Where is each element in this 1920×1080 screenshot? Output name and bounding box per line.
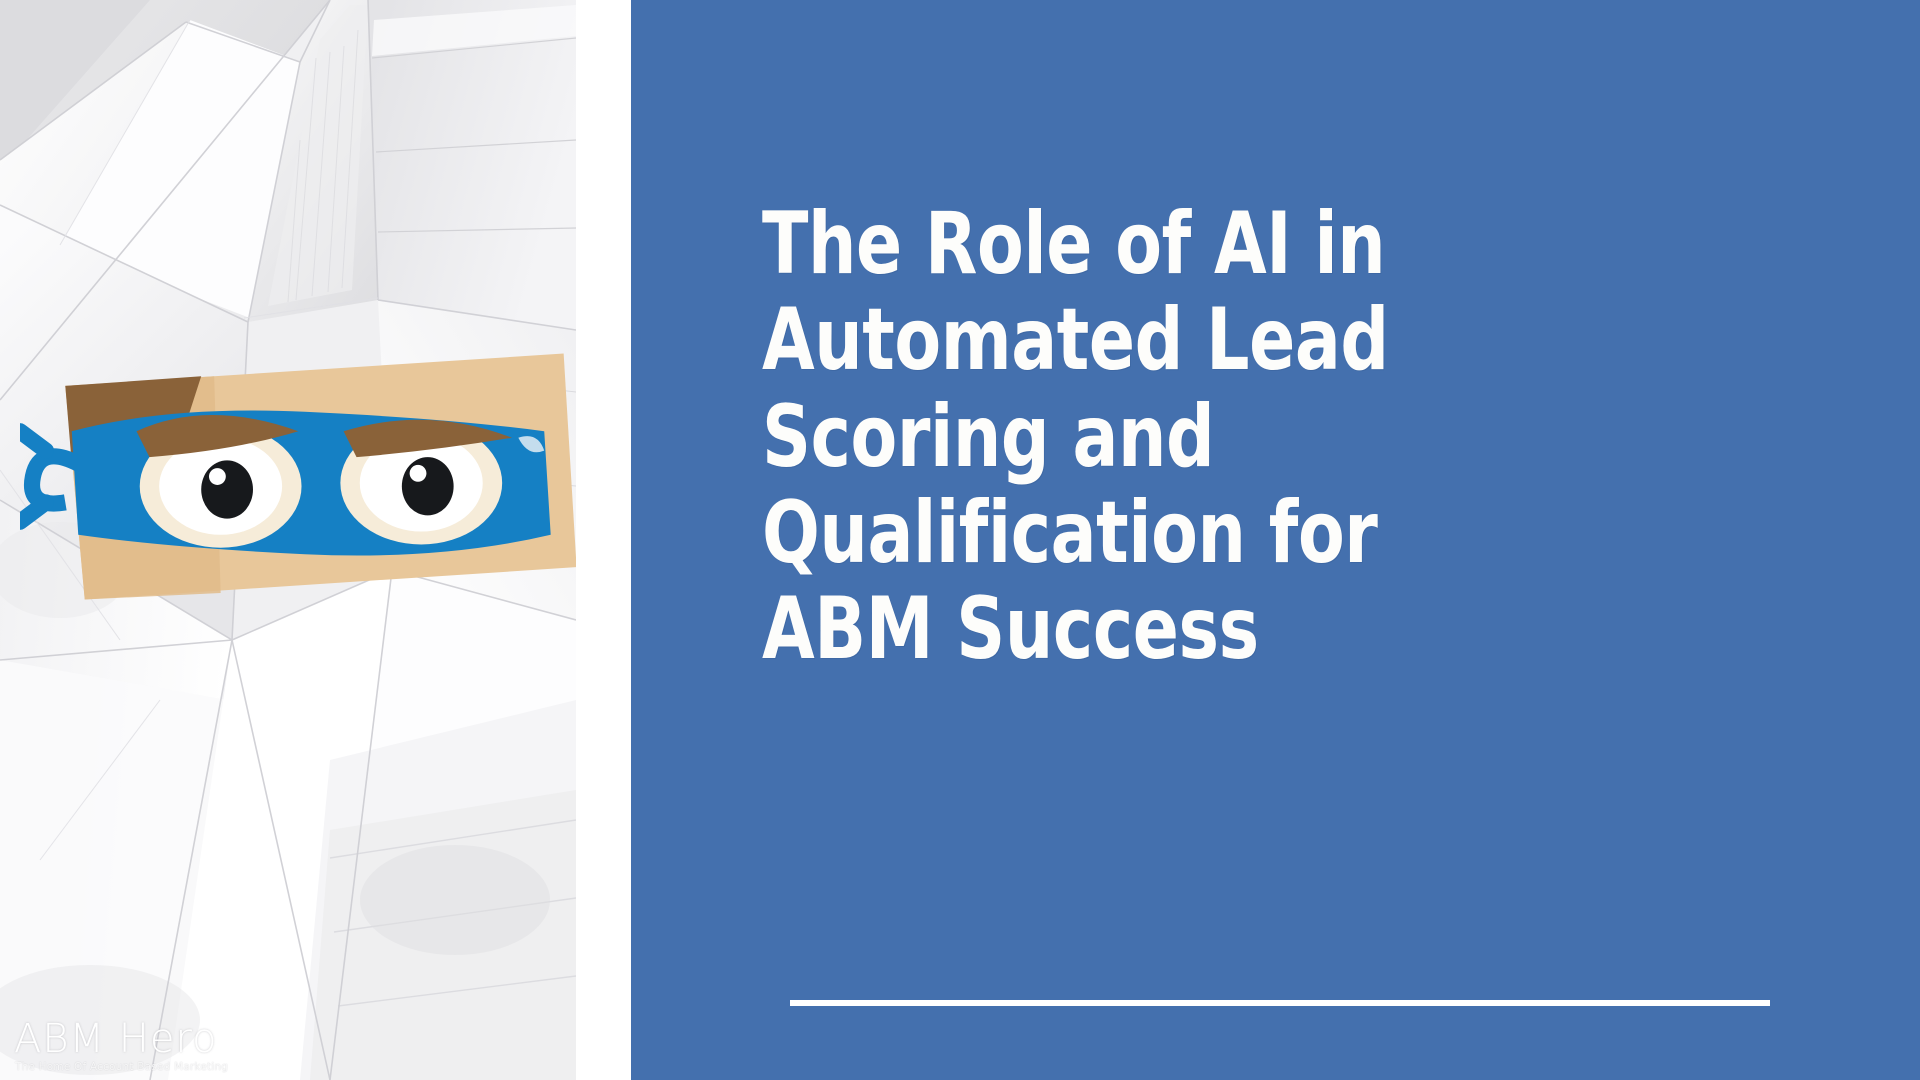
title-container: The Role of AI in Automated Lead Scoring… (762, 0, 1772, 1080)
page-title: The Role of AI in Automated Lead Scoring… (762, 196, 1651, 678)
hero-image-panel: ABM Hero The Home Of Account Based Marke… (0, 0, 576, 1080)
abm-hero-logo[interactable]: ABM Hero The Home Of Account Based Marke… (8, 0, 238, 1074)
logo-wordmark: ABM Hero (14, 1019, 238, 1059)
title-underline-rule (790, 1000, 1770, 1006)
featured-image-canvas: ABM Hero The Home Of Account Based Marke… (0, 0, 1920, 1080)
logo-tagline: The Home Of Account Based Marketing (15, 1062, 238, 1074)
ninja-mask-icon (20, 0, 576, 1023)
